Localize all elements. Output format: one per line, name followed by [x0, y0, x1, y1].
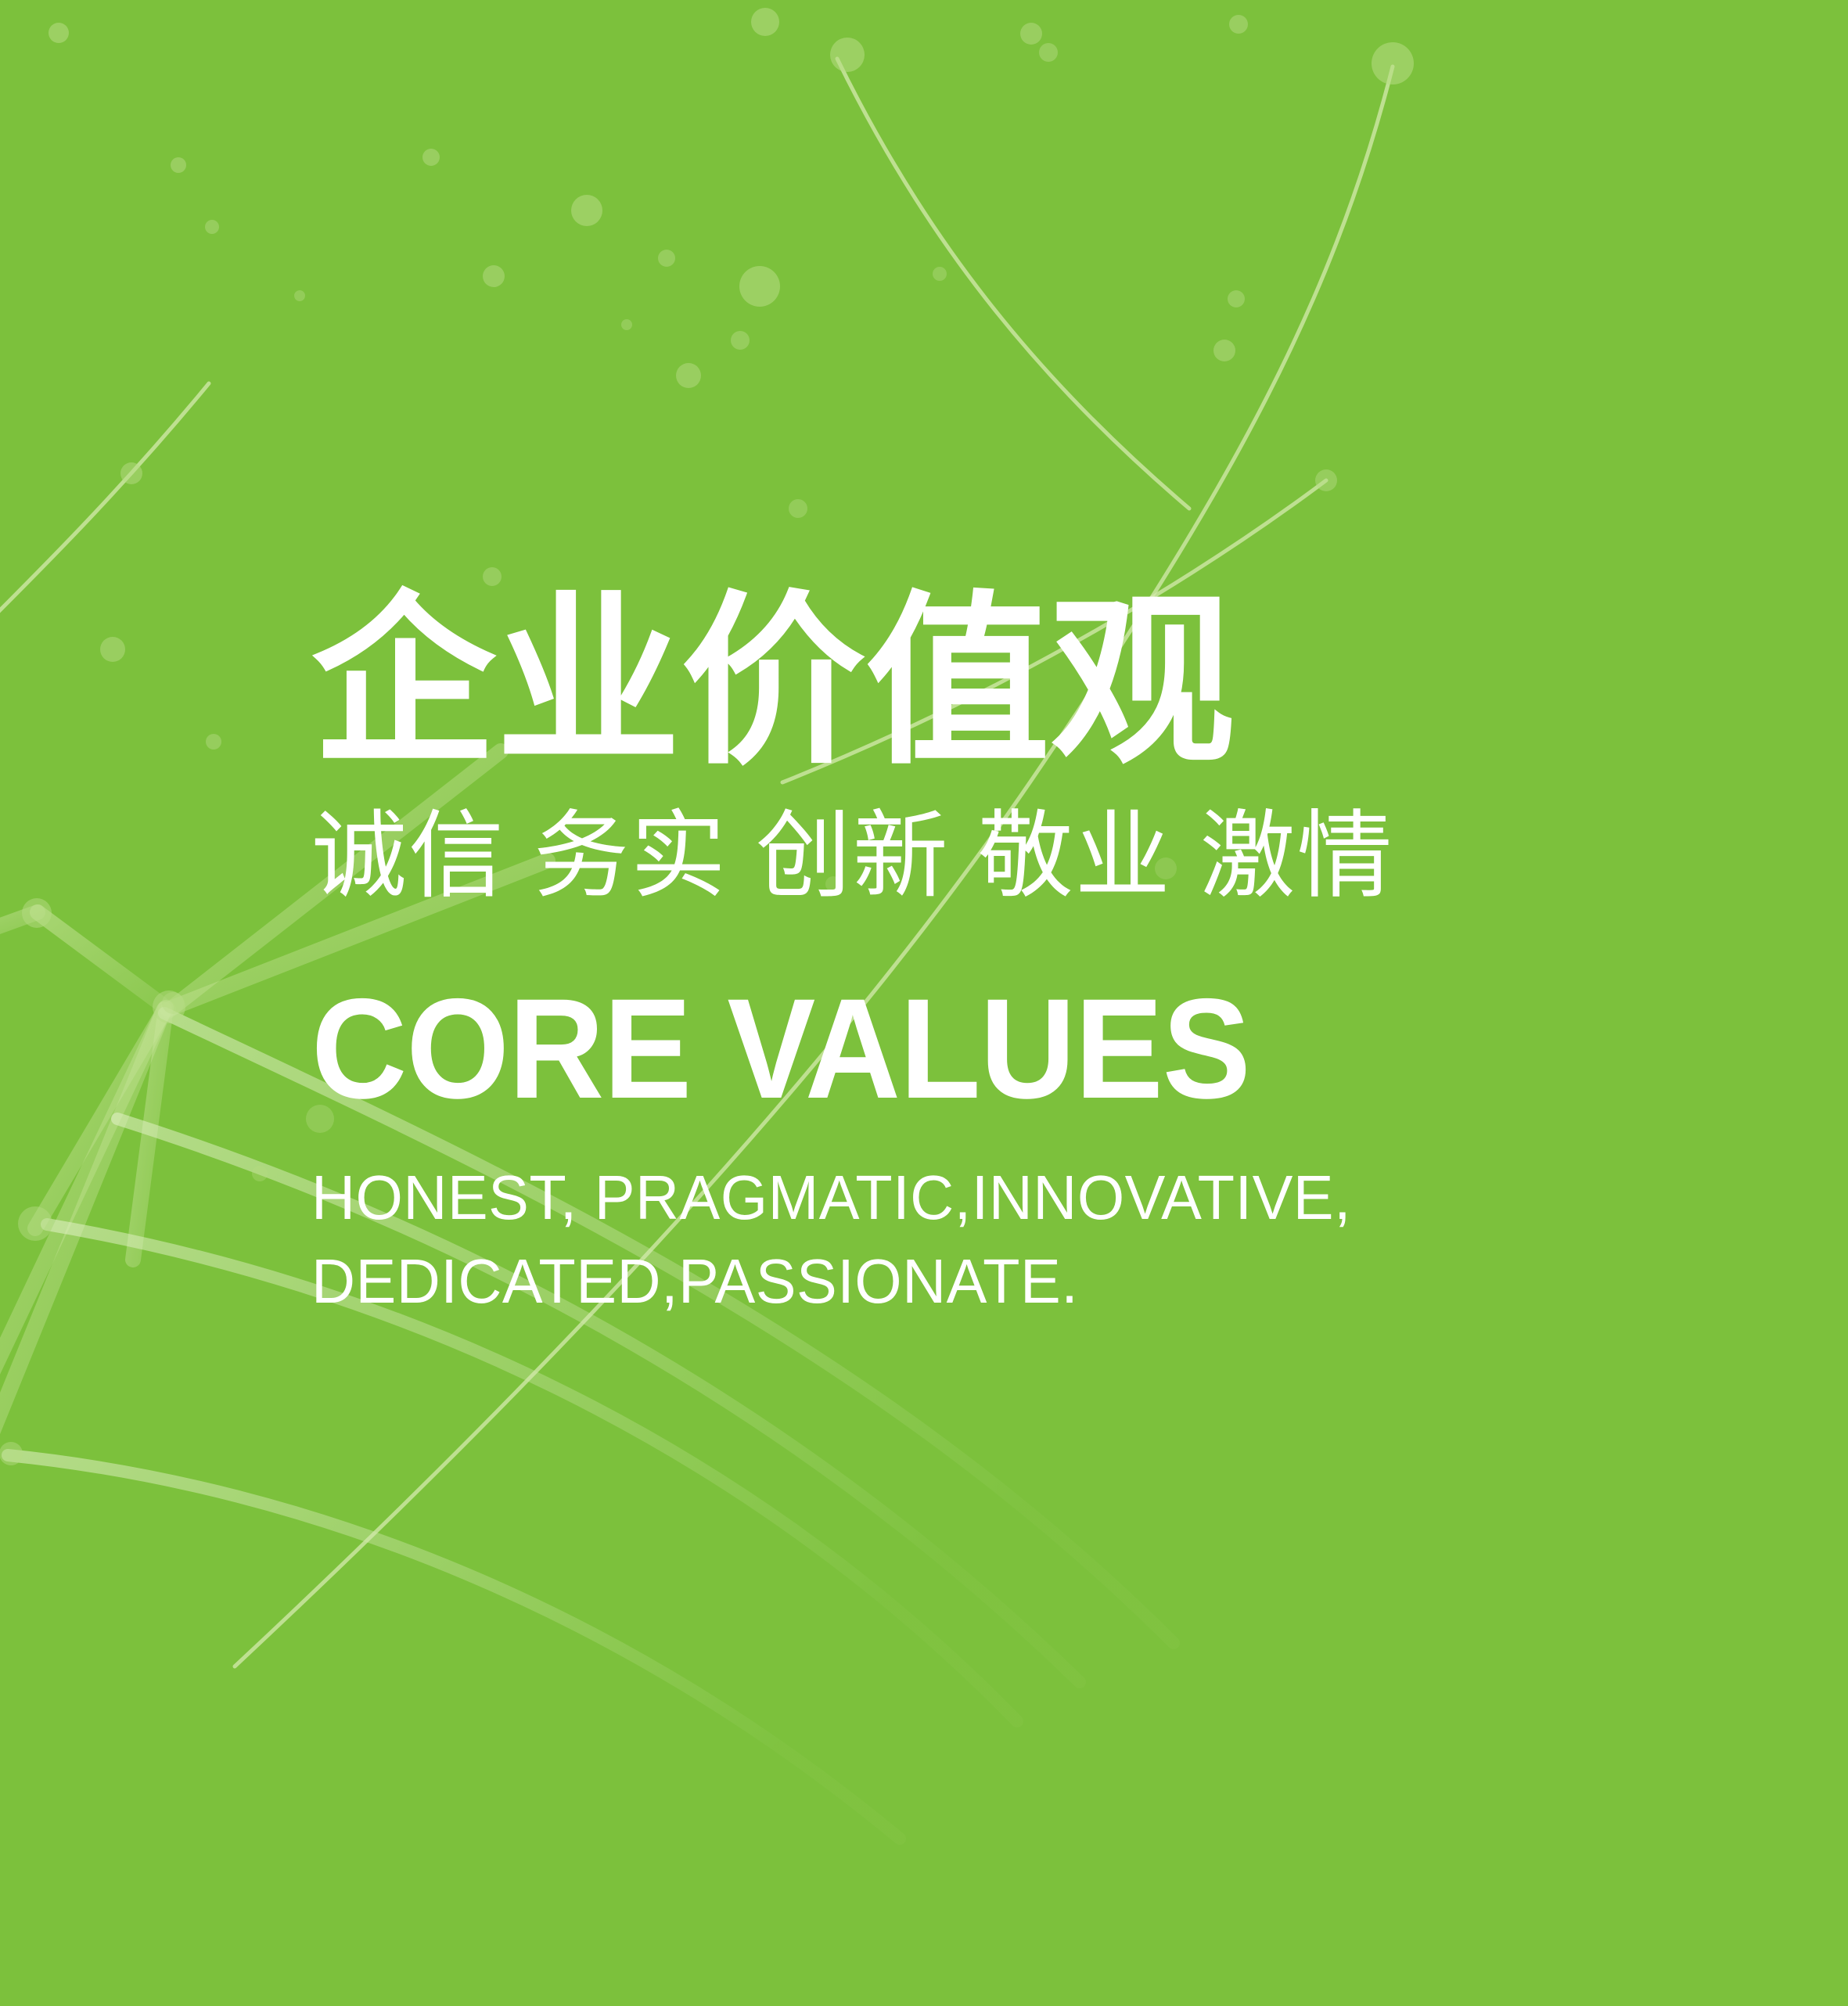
subtitle-english-line-2: DEDICATED,PASSIONATE. [311, 1239, 1677, 1323]
subtitle-english-line-1: HONEST, PRAGMATIC,INNOVATIVE, [311, 1156, 1677, 1239]
subtitle-english: HONEST, PRAGMATIC,INNOVATIVE, DEDICATED,… [311, 1156, 1677, 1323]
text-content-block: 企业价值观 诚信 务实 创新 敬业 激情 CORE VALUES HONEST,… [311, 588, 1720, 1323]
page-title-chinese: 企业价值观 [311, 588, 1720, 777]
page-title-english: CORE VALUES [311, 977, 1621, 1120]
subtitle-chinese: 诚信 务实 创新 敬业 激情 [311, 803, 1720, 908]
poster-canvas: 企业价值观 诚信 务实 创新 敬业 激情 CORE VALUES HONEST,… [0, 0, 1848, 2006]
